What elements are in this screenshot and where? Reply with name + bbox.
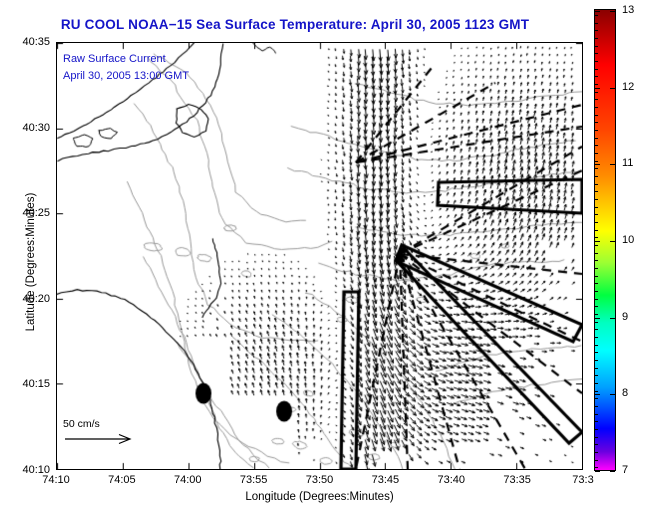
colorbar-tick	[595, 471, 600, 472]
colorbar-minor-tick	[595, 214, 598, 215]
colorbar-minor-tick	[595, 115, 598, 116]
colorbar-minor-tick	[595, 46, 598, 47]
colorbar-minor-tick	[595, 76, 598, 77]
colorbar-tick	[610, 241, 615, 242]
colorbar-minor-tick	[595, 245, 598, 246]
colorbar-minor-tick	[595, 69, 598, 70]
x-tick-label: 73:50	[306, 474, 334, 486]
colorbar-minor-tick	[595, 153, 598, 154]
colorbar-minor-tick	[595, 322, 598, 323]
x-tick-label: 74:00	[174, 474, 202, 486]
colorbar-minor-tick	[595, 398, 598, 399]
colorbar-tick-label: 10	[622, 234, 634, 246]
colorbar-tick	[595, 394, 600, 395]
x-tick-label: 74:05	[108, 474, 136, 486]
colorbar-tick	[595, 241, 600, 242]
colorbar-minor-tick	[595, 38, 598, 39]
colorbar-minor-tick	[595, 421, 598, 422]
colorbar-minor-tick	[595, 15, 598, 16]
colorbar-minor-tick	[595, 391, 598, 392]
colorbar-minor-tick	[595, 345, 598, 346]
colorbar[interactable]	[594, 9, 616, 471]
colorbar-minor-tick	[595, 222, 598, 223]
colorbar-tick-label: 7	[622, 464, 628, 476]
colorbar-tick-label: 13	[622, 4, 634, 16]
colorbar-minor-tick	[595, 268, 598, 269]
colorbar-minor-tick	[595, 306, 598, 307]
colorbar-minor-tick	[595, 23, 598, 24]
colorbar-tick	[610, 11, 615, 12]
colorbar-minor-tick	[595, 253, 598, 254]
colorbar-minor-tick	[595, 191, 598, 192]
colorbar-minor-tick	[595, 230, 598, 231]
colorbar-minor-tick	[595, 329, 598, 330]
colorbar-tick-label: 11	[622, 157, 633, 169]
colorbar-tick-label: 9	[622, 311, 628, 323]
colorbar-minor-tick	[595, 276, 598, 277]
colorbar-minor-tick	[595, 444, 598, 445]
colorbar-minor-tick	[595, 283, 598, 284]
y-tick-label: 40:25	[8, 207, 50, 219]
x-tick-label: 73:35	[503, 474, 531, 486]
colorbar-tick	[595, 88, 600, 89]
colorbar-minor-tick	[595, 337, 598, 338]
colorbar-minor-tick	[595, 99, 598, 100]
colorbar-tick	[610, 88, 615, 89]
colorbar-tick-label: 12	[622, 81, 634, 93]
arrow-right-icon	[63, 432, 135, 446]
figure-title: RU COOL NOAA−15 Sea Surface Temperature:…	[0, 17, 590, 32]
colorbar-minor-tick	[595, 53, 598, 54]
x-tick-label: 73:3	[572, 474, 593, 486]
x-tick-label: 73:40	[437, 474, 465, 486]
colorbar-minor-tick	[595, 383, 598, 384]
colorbar-minor-tick	[595, 299, 598, 300]
colorbar-tick	[610, 394, 615, 395]
colorbar-minor-tick	[595, 406, 598, 407]
colorbar-tick	[610, 318, 615, 319]
colorbar-minor-tick	[595, 130, 598, 131]
colorbar-minor-tick	[595, 291, 598, 292]
colorbar-minor-tick	[595, 107, 598, 108]
colorbar-minor-tick	[595, 260, 598, 261]
colorbar-minor-tick	[595, 145, 598, 146]
x-tick-label: 73:45	[372, 474, 400, 486]
colorbar-minor-tick	[595, 138, 598, 139]
colorbar-minor-tick	[595, 199, 598, 200]
colorbar-minor-tick	[595, 414, 598, 415]
colorbar-minor-tick	[595, 161, 598, 162]
colorbar-minor-tick	[595, 429, 598, 430]
x-axis-title: Longitude (Degrees:Minutes)	[56, 491, 583, 503]
colorbar-minor-tick	[595, 352, 598, 353]
colorbar-minor-tick	[595, 237, 598, 238]
colorbar-tick	[610, 471, 615, 472]
velocity-scale-bar: 50 cm/s	[63, 418, 168, 451]
x-tick-label: 73:55	[240, 474, 268, 486]
colorbar-minor-tick	[595, 184, 598, 185]
colorbar-minor-tick	[595, 92, 598, 93]
colorbar-minor-tick	[595, 452, 598, 453]
y-tick-label: 40:15	[8, 378, 50, 390]
colorbar-minor-tick	[595, 84, 598, 85]
colorbar-minor-tick	[595, 30, 598, 31]
colorbar-minor-tick	[595, 360, 598, 361]
colorbar-tick-label: 8	[622, 387, 628, 399]
colorbar-tick	[610, 164, 615, 165]
colorbar-minor-tick	[595, 437, 598, 438]
colorbar-minor-tick	[595, 460, 598, 461]
colorbar-tick	[595, 11, 600, 12]
scale-bar-label: 50 cm/s	[63, 418, 168, 430]
colorbar-tick	[595, 318, 600, 319]
colorbar-minor-tick	[595, 375, 598, 376]
colorbar-minor-tick	[595, 61, 598, 62]
colorbar-minor-tick	[595, 207, 598, 208]
colorbar-minor-tick	[595, 176, 598, 177]
y-tick-label: 40:35	[8, 36, 50, 48]
colorbar-minor-tick	[595, 168, 598, 169]
plot-axes[interactable]: Raw Surface Current April 30, 2005 13:00…	[56, 42, 583, 470]
colorbar-minor-tick	[595, 368, 598, 369]
y-axis-title: Latitude (Degrees:Minutes)	[25, 152, 37, 372]
y-tick-label: 40:10	[8, 464, 50, 476]
y-tick-label: 40:30	[8, 122, 50, 134]
colorbar-minor-tick	[595, 122, 598, 123]
colorbar-minor-tick	[595, 467, 598, 468]
colorbar-minor-tick	[595, 314, 598, 315]
sst-current-map-canvas[interactable]	[57, 43, 582, 469]
colorbar-gradient	[595, 10, 615, 470]
colorbar-tick	[595, 164, 600, 165]
y-tick-label: 40:20	[8, 293, 50, 305]
